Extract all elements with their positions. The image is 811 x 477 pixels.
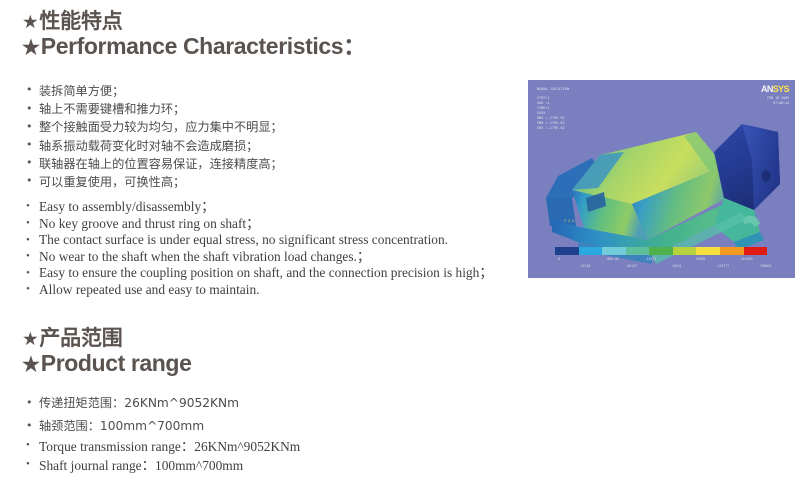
product-range-title-cn: ★产品范围 [22,327,191,351]
legend-swatch [720,247,744,255]
ansys-fea-figure: NODAL SOLUTION STEP=1 SUB =1 TIME=1 SEQV… [528,80,795,278]
fea-header-line: TIME=1 [537,106,550,111]
legend-swatch [696,247,720,255]
legend-swatch [673,247,697,255]
fea-header-line: SEQV [537,111,546,116]
legend-label: .02182 [579,264,591,268]
list-item: Torque transmission range：26KNm^9052KNm [26,437,300,456]
star-icon: ★ [22,13,38,34]
list-item: 轴上不需要键槽和推力环； [26,100,283,118]
legend-label: .2e34E0 [739,257,752,261]
product-range-title-cn-text: 产品范围 [39,326,122,350]
performance-title-en-text: Performance Characteristics： [41,33,366,59]
legend-label: .298641 [758,264,771,268]
performance-title-cn-text: 性能特点 [39,9,122,33]
star-icon: ★ [22,37,40,60]
fea-header-line: SMX =.279E-02 [537,126,565,131]
fea-time-stamp: 07:08:44 [773,101,789,106]
legend-label: 0 [558,257,560,261]
list-item: Easy to assembly/disassembly； [26,199,493,216]
legend-swatch [649,247,673,255]
list-item: No key groove and thrust ring on shaft； [26,216,493,233]
list-item: Allow repeated use and easy to maintain. [26,282,493,299]
legend-swatch [555,247,579,255]
axis-triad-label: Y Z X [564,219,574,223]
product-range-heading-block: ★产品范围 ★Product range [22,327,191,376]
star-icon: ★ [22,330,38,351]
legend-label: .13273 [645,257,657,261]
ansys-logo-sys: SYS [773,84,789,94]
list-item: 轴系振动载荷变化时对轴不会造成磨损； [26,137,283,155]
legend-swatch [602,247,626,255]
list-item: Shaft journal range：100mm^700mm [26,456,300,475]
list-item: Easy to ensure the coupling position on … [26,265,493,282]
performance-bullets-en: Easy to assembly/disassembly； No key gro… [26,199,493,299]
fea-header-line: DMX =.279E-02 [537,116,565,121]
performance-title-en: ★Performance Characteristics： [22,34,366,60]
legend-label: .232777 [716,264,729,268]
list-item: 装拆简单方便； [26,82,283,100]
fea-header-line: STEP=1 [537,96,550,101]
legend-swatch [626,247,650,255]
fea-header-line: SMN =.279E-02 [537,121,565,126]
product-range-bullets-en: Torque transmission range：26KNm^9052KNm … [26,437,300,475]
performance-title-cn: ★性能特点 [22,10,366,34]
legend-label: .19988 [693,257,705,261]
fea-header-title: NODAL SOLUTION [537,87,569,92]
product-range-title-en-text: Product range [41,350,192,376]
list-item: 整个接触面受力较为均匀，应力集中不明显； [26,118,283,136]
legend-swatch [744,247,768,255]
product-range-title-en: ★Product range [22,351,191,377]
list-item: 联轴器在轴上的位置容易保证，连接精度高； [26,155,283,173]
fea-color-legend [555,247,767,255]
list-item: The contact surface is under equal stres… [26,232,493,249]
star-icon: ★ [22,354,40,377]
fea-date-stamp: FEB 18 2009 [767,96,789,101]
list-item: No wear to the shaft when the shaft vibr… [26,249,493,266]
list-item: 可以重复使用，可换性高； [26,173,283,191]
list-item: 轴颈范围：100mm^700mm [26,415,239,438]
fea-header-line: SUB =1 [537,101,550,106]
legend-label: .10241 [670,264,682,268]
performance-heading-block: ★性能特点 ★Performance Characteristics： [22,10,366,59]
product-range-bullets-cn: 传递扭矩范围：26KNm^9052KNm 轴颈范围：100mm^700mm [26,392,239,438]
legend-label: .86e-02 [606,257,619,261]
ansys-logo: ANSYS [761,85,789,94]
legend-swatch [579,247,603,255]
ansys-logo-an: AN [761,84,773,94]
performance-bullets-cn: 装拆简单方便； 轴上不需要键槽和推力环； 整个接触面受力较为均匀，应力集中不明显… [26,82,283,191]
legend-label: .04147 [626,264,638,268]
list-item: 传递扭矩范围：26KNm^9052KNm [26,392,239,415]
